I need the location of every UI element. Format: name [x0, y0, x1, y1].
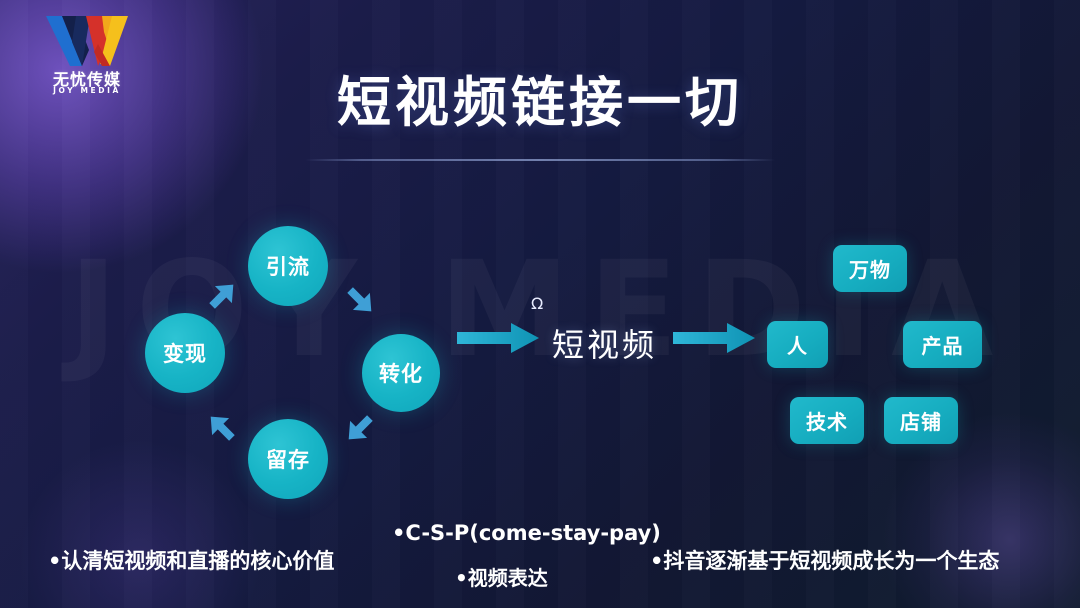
target-box-label: 技术 — [806, 406, 848, 435]
cycle-node-label: 引流 — [266, 251, 310, 281]
cycle-arrow-down-left-icon — [336, 404, 384, 456]
arrow-to-center-icon — [457, 320, 539, 360]
slide-canvas: JOY MEDIA 无忧传媒 JOY MEDIA 短视频链接一切 引流 变现 转… — [0, 0, 1080, 608]
cycle-node-bianxian[interactable]: 变现 — [145, 313, 225, 393]
cycle-arrow-down-right-icon — [336, 276, 384, 328]
target-box-dianpu[interactable]: 店铺 — [884, 397, 958, 444]
arrow-to-targets-icon — [673, 320, 755, 360]
target-box-chanpin[interactable]: 产品 — [903, 321, 982, 368]
target-box-label: 万物 — [849, 254, 891, 283]
cycle-node-label: 转化 — [379, 358, 423, 388]
page-title: 短视频链接一切 — [0, 58, 1080, 137]
bullet-left: •认清短视频和直播的核心价值 — [48, 545, 334, 575]
bullet-middle-primary: •C-S-P(come-stay-pay) — [392, 521, 661, 545]
cycle-node-liucun[interactable]: 留存 — [248, 419, 328, 499]
bullet-middle-secondary: •视频表达 — [455, 562, 548, 591]
target-box-wanwu[interactable]: 万物 — [833, 245, 907, 292]
bullet-right: •抖音逐渐基于短视频成长为一个生态 — [650, 545, 999, 575]
cycle-node-yinliu[interactable]: 引流 — [248, 226, 328, 306]
target-box-ren[interactable]: 人 — [767, 321, 828, 368]
target-box-jishu[interactable]: 技术 — [790, 397, 864, 444]
cycle-node-zhuanhua[interactable]: 转化 — [362, 334, 440, 412]
center-label-short-video: 短视频 — [552, 320, 657, 366]
cycle-node-label: 留存 — [266, 444, 310, 474]
title-divider — [305, 159, 775, 161]
cycle-arrow-up-right-icon — [198, 272, 246, 324]
target-box-label: 店铺 — [900, 406, 942, 435]
cycle-node-label: 变现 — [163, 338, 207, 368]
cycle-arrow-up-left-icon — [198, 404, 246, 456]
target-box-label: 产品 — [922, 330, 964, 359]
target-box-label: 人 — [787, 330, 808, 359]
omega-symbol: Ω — [531, 294, 543, 313]
